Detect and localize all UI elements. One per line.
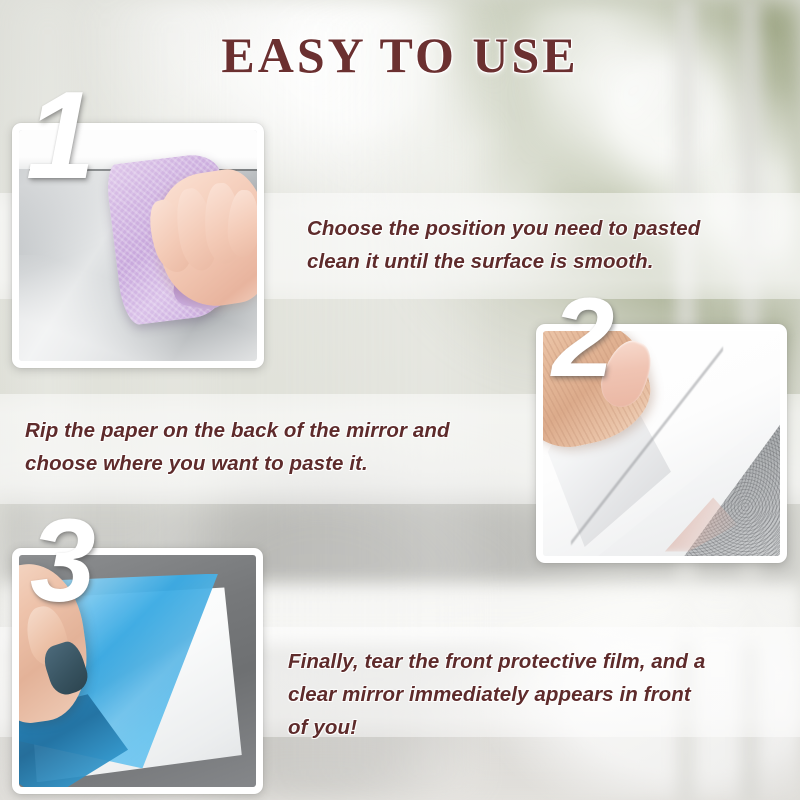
step-2-line-2: choose where you want to paste it. [25,447,525,480]
step-3-line-3: of you! [288,711,778,744]
infographic-page: EASY TO USE 1 Choose the position you ne… [0,0,800,800]
step-1-line-2: clean it until the surface is smooth. [307,245,777,278]
step-3-line-1: Finally, tear the front protective film,… [288,645,778,678]
step-2-numeral: 2 [552,282,614,394]
step-3-line-2: clear mirror immediately appears in fron… [288,678,778,711]
step-1-numeral: 1 [26,74,95,198]
step-1-text: Choose the position you need to pasted c… [307,212,777,278]
step-1-line-1: Choose the position you need to pasted [307,212,777,245]
step-3-text: Finally, tear the front protective film,… [288,645,778,744]
page-title: EASY TO USE [0,26,800,84]
step-2-line-1: Rip the paper on the back of the mirror … [25,414,525,447]
step-3-numeral: 3 [30,502,96,620]
step-2-text: Rip the paper on the back of the mirror … [25,414,525,480]
